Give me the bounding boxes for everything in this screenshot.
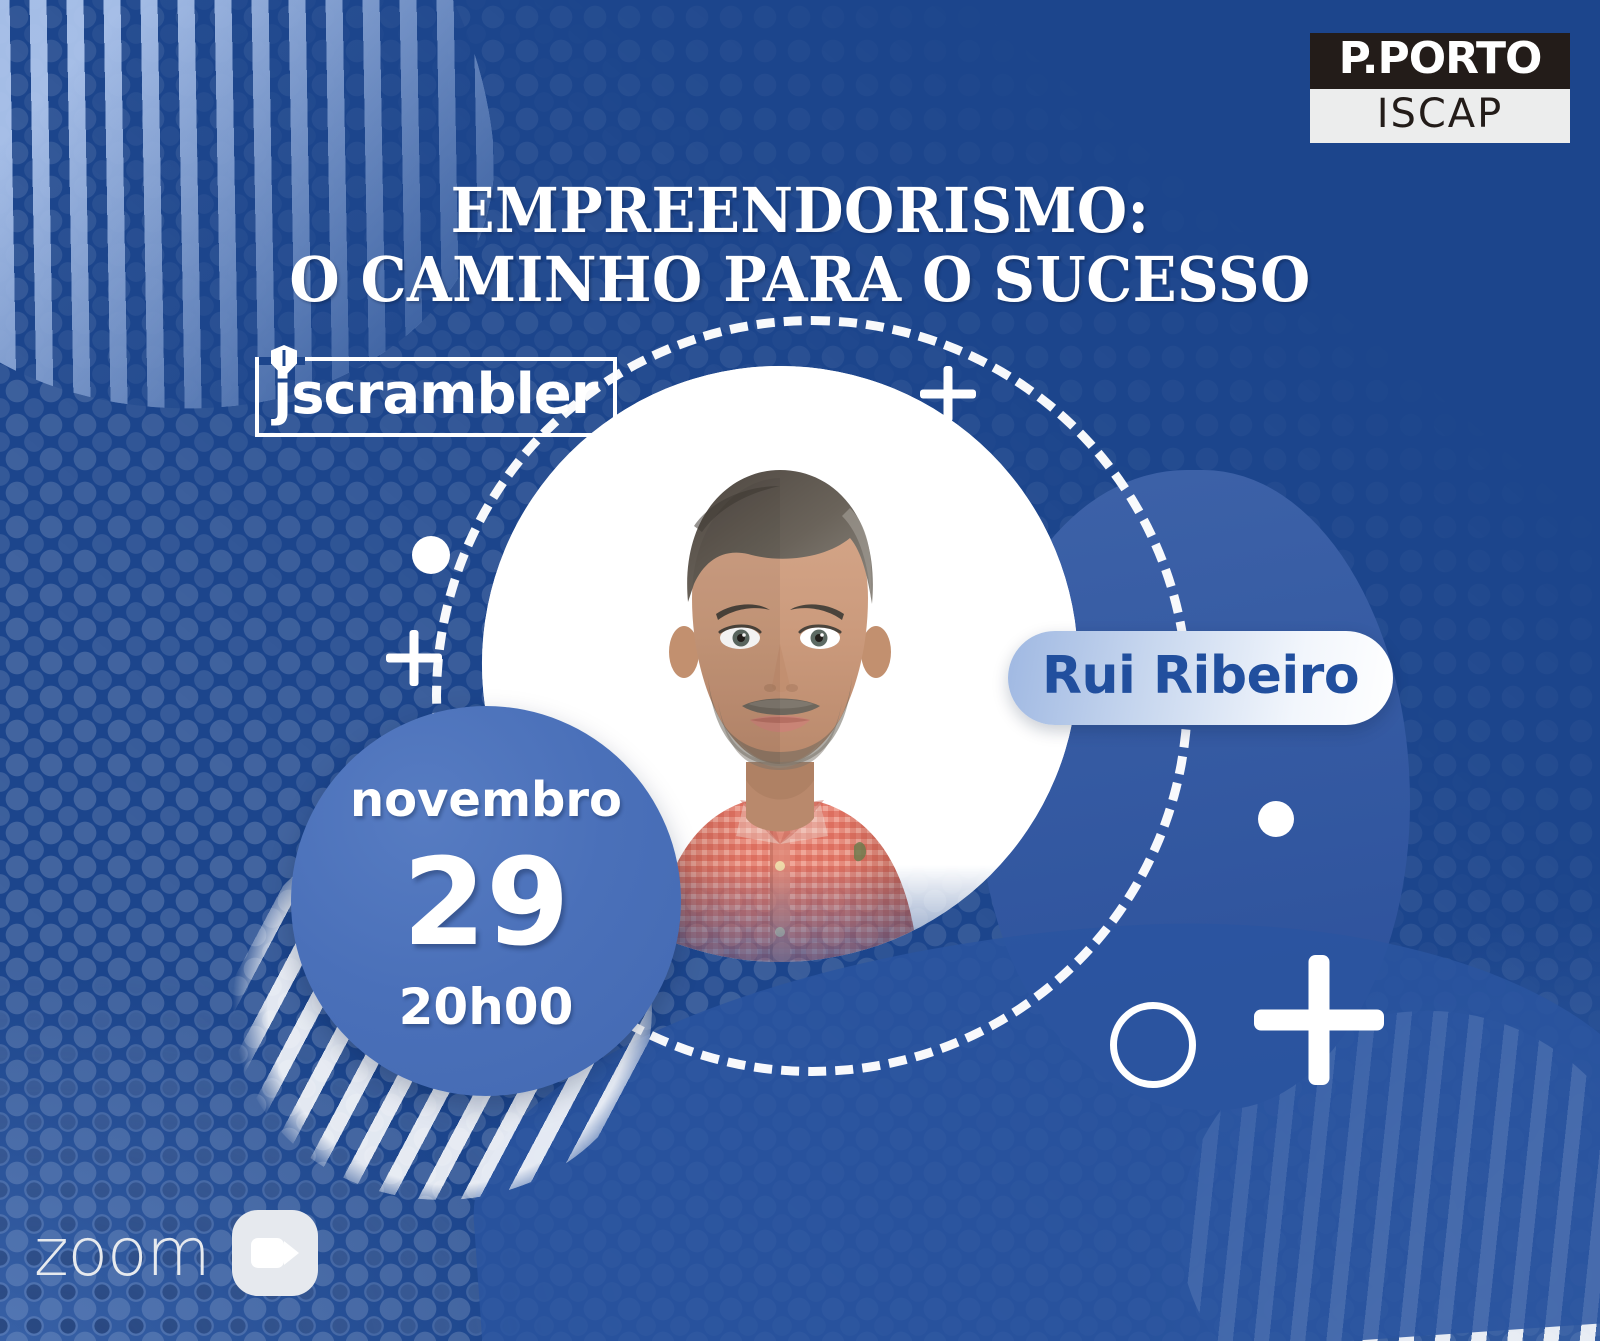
event-day: 29	[403, 840, 570, 967]
iscap-label: ISCAP	[1310, 89, 1570, 143]
dot-shape-left	[412, 536, 450, 574]
ring-outline-shape	[1110, 1002, 1196, 1088]
title-line-2: O CAMINHO PARA O SUCESSO	[56, 245, 1544, 314]
plus-icon-left	[386, 630, 442, 686]
title-line-1: EMPREENDORISMO:	[451, 174, 1150, 247]
event-month: novembro	[350, 776, 622, 824]
plus-icon-top	[920, 366, 976, 422]
speaker-name-badge: Rui Ribeiro	[1008, 631, 1393, 725]
dot-shape-right	[1258, 801, 1294, 837]
jscrambler-label: jscrambler	[273, 362, 597, 427]
event-time: 20h00	[399, 982, 574, 1032]
pporto-iscap-logo: P.PORTO ISCAP	[1310, 33, 1570, 143]
video-camera-icon	[232, 1210, 318, 1296]
pporto-label: P.PORTO	[1310, 33, 1570, 89]
plus-icon-large	[1254, 955, 1384, 1085]
event-date-badge: novembro 29 20h00	[291, 706, 681, 1096]
zoom-label: zoom	[34, 1220, 210, 1286]
event-poster: EMPREENDORISMO: O CAMINHO PARA O SUCESSO…	[0, 0, 1600, 1341]
jscrambler-logo: jscrambler	[255, 357, 617, 437]
zoom-logo: zoom	[34, 1210, 318, 1296]
page-title: EMPREENDORISMO: O CAMINHO PARA O SUCESSO	[56, 176, 1544, 315]
